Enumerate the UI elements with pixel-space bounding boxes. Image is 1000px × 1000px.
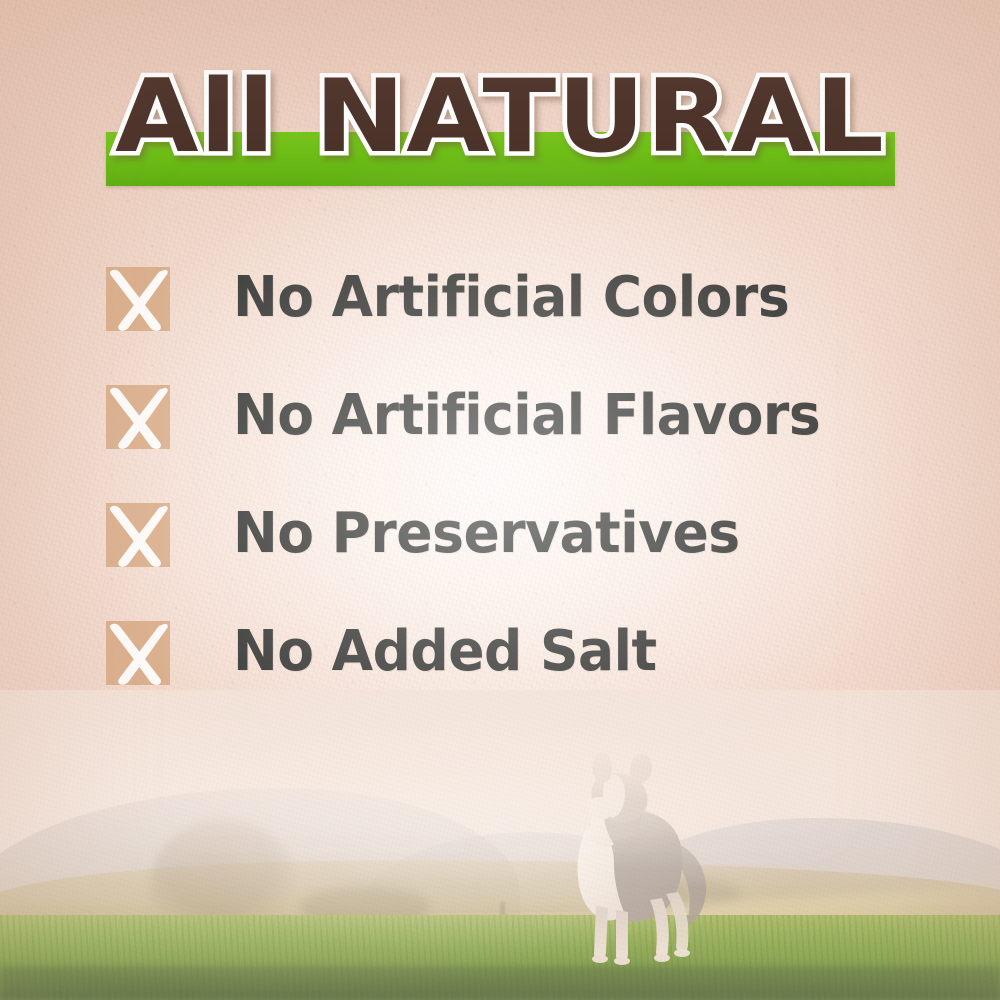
x-mark-icon — [100, 379, 176, 455]
x-mark-checkbox — [106, 385, 170, 449]
dog — [528, 748, 728, 968]
claim-label: No Artificial Colors — [233, 258, 789, 338]
grass-shadow — [0, 966, 1000, 1000]
claim-row: No Preservatives — [106, 494, 946, 612]
lifestyle-photo — [0, 690, 1000, 1000]
claim-row: No Artificial Flavors — [106, 376, 946, 494]
border-collie-silhouette — [528, 748, 728, 968]
x-mark-checkbox — [106, 503, 170, 567]
claim-label: No Added Salt — [233, 612, 657, 692]
claim-label: No Preservatives — [233, 494, 740, 574]
x-mark-checkbox — [106, 267, 170, 331]
claim-label: No Artificial Flavors — [233, 376, 820, 456]
headline-title: All NATURAL — [0, 58, 1000, 174]
headline-banner: All NATURAL — [0, 58, 1000, 203]
x-mark-icon — [100, 261, 176, 337]
x-mark-icon — [100, 497, 176, 573]
x-mark-checkbox — [106, 621, 170, 685]
claims-list: No Artificial Colors No Artificial Flavo… — [106, 258, 946, 730]
photo-scene — [0, 690, 1000, 1000]
x-mark-icon — [100, 615, 176, 691]
all-natural-feature-panel: All NATURAL No Artificial Colors No Arti… — [0, 0, 1000, 1000]
claim-row: No Artificial Colors — [106, 258, 946, 376]
